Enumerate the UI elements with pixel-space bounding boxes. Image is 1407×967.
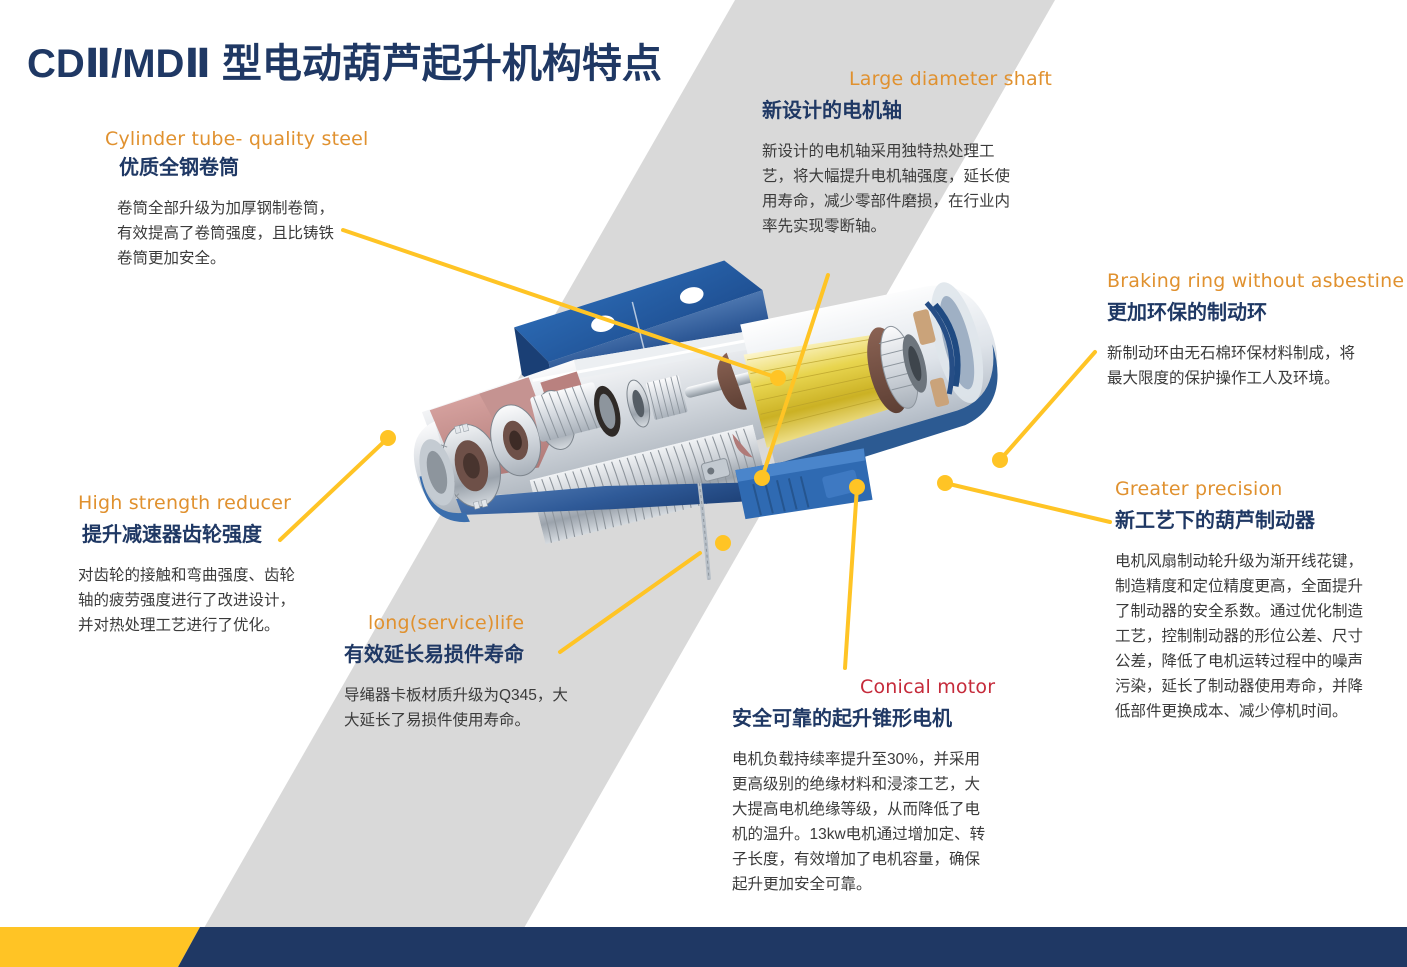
callout-cn-title: 更加环保的制动环 bbox=[1107, 299, 1397, 327]
slide-canvas: CDⅡ/MDⅡ 型电动葫芦起升机构特点 Cylinder tube- quali… bbox=[0, 0, 1407, 967]
callout-cn-title: 提升减速器齿轮强度 bbox=[82, 521, 340, 549]
page-title-text: CDⅡ/MDⅡ 型电动葫芦起升机构特点 bbox=[27, 42, 662, 86]
callout-cn-title: 优质全钢卷筒 bbox=[119, 154, 355, 182]
callout-en-title: Braking ring without asbestine bbox=[1107, 270, 1397, 294]
callout-en-title: Cylinder tube- quality steel bbox=[105, 128, 355, 152]
callout-body: 对齿轮的接触和弯曲强度、齿轮轴的疲劳强度进行了改进设计，并对热处理工艺进行了优化… bbox=[78, 563, 306, 638]
callout-body: 卷筒全部升级为加厚钢制卷筒，有效提高了卷筒强度，且比铸铁卷筒更加安全。 bbox=[117, 196, 345, 271]
callout-en-title: Large diameter shaft bbox=[762, 68, 1052, 92]
callout-body: 导绳器卡板材质升级为Q345，大大延长了易损件使用寿命。 bbox=[344, 683, 570, 733]
callout-en-title: Conical motor bbox=[860, 676, 1000, 700]
callout-cn-title: 新设计的电机轴 bbox=[762, 97, 1052, 125]
callout-body: 电机风扇制动轮升级为渐开线花键，制造精度和定位精度更高，全面提升了制动器的安全系… bbox=[1115, 549, 1363, 725]
callout-cn-title: 新工艺下的葫芦制动器 bbox=[1115, 507, 1407, 535]
callout-braking-ring: Braking ring without asbestine 更加环保的制动环 … bbox=[1107, 270, 1397, 391]
footer-bar bbox=[0, 927, 1407, 967]
callout-conical-motor: Conical motor 安全可靠的起升锥形电机 电机负载持续率提升至30%，… bbox=[732, 676, 1000, 897]
callout-cn-title: 安全可靠的起升锥形电机 bbox=[732, 705, 1000, 733]
callout-body: 电机负载持续率提升至30%，并采用更高级别的绝缘材料和浸漆工艺，大大提高电机绝缘… bbox=[732, 747, 990, 898]
page-title: CDⅡ/MDⅡ 型电动葫芦起升机构特点 bbox=[27, 42, 662, 86]
callout-en-title: long(service)life bbox=[368, 612, 590, 636]
callout-body: 新设计的电机轴采用独特热处理工艺，将大幅提升电机轴强度，延长使用寿命，减少零部件… bbox=[762, 139, 1024, 239]
callout-large-diameter-shaft: Large diameter shaft 新设计的电机轴 新设计的电机轴采用独特… bbox=[762, 68, 1052, 239]
callout-en-title: Greater precision bbox=[1115, 478, 1407, 502]
callout-cn-title: 有效延长易损件寿命 bbox=[344, 641, 590, 669]
callout-high-strength-reducer: High strength reducer 提升减速器齿轮强度 对齿轮的接触和弯… bbox=[78, 492, 340, 638]
callout-long-service-life: long(service)life 有效延长易损件寿命 导绳器卡板材质升级为Q3… bbox=[340, 612, 590, 733]
callout-body: 新制动环由无石棉环保材料制成，将最大限度的保护操作工人及环境。 bbox=[1107, 341, 1359, 391]
hoist-cutaway-illustration bbox=[300, 255, 1060, 615]
footer-bar-navy bbox=[178, 927, 1407, 967]
footer-bar-yellow bbox=[0, 927, 200, 967]
callout-en-title: High strength reducer bbox=[78, 492, 340, 516]
callout-greater-precision: Greater precision 新工艺下的葫芦制动器 电机风扇制动轮升级为渐… bbox=[1115, 478, 1407, 725]
callout-cylinder-tube: Cylinder tube- quality steel 优质全钢卷筒 卷筒全部… bbox=[105, 128, 355, 271]
